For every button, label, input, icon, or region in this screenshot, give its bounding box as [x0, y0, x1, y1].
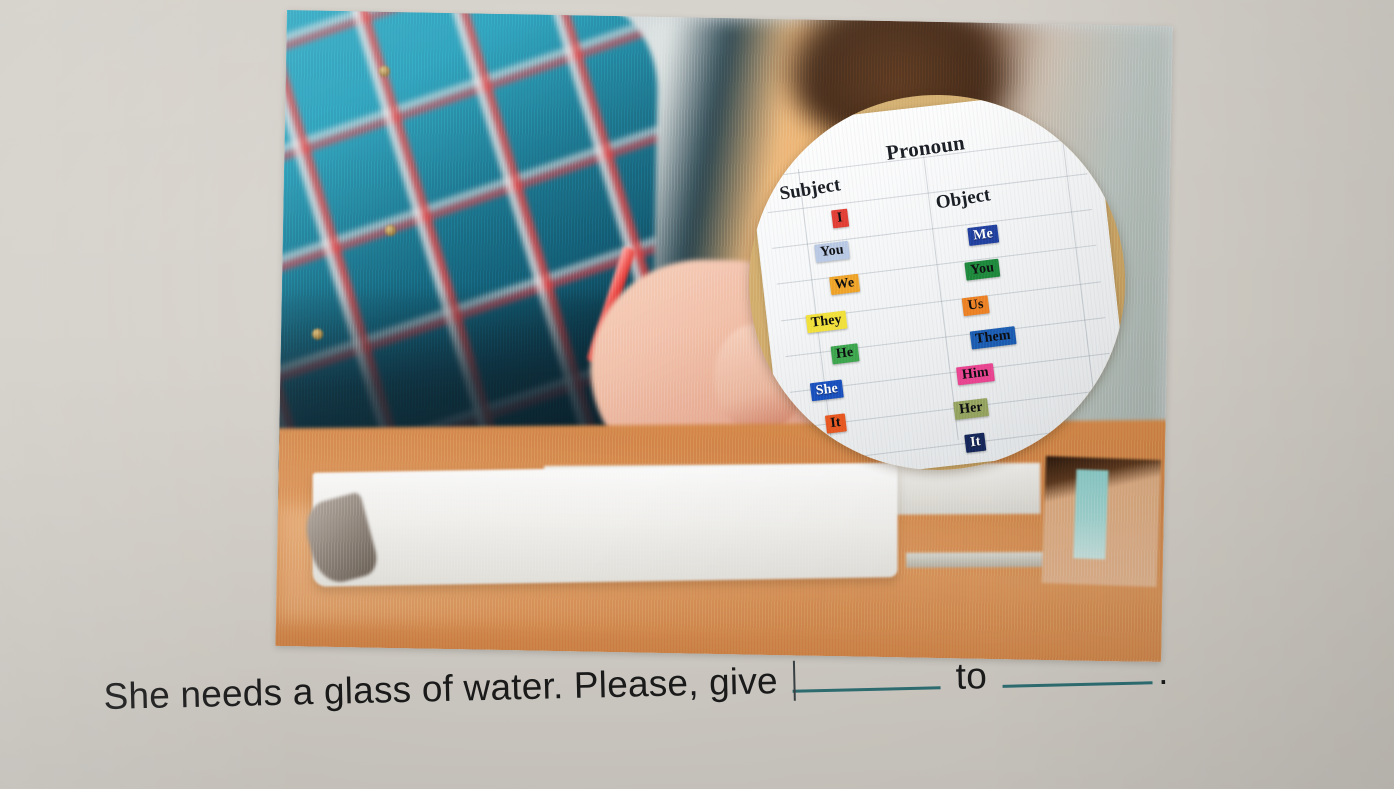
answer-blank-1[interactable]	[793, 686, 941, 692]
pronoun-tile-subject-it: It	[824, 414, 846, 434]
pronoun-tile-subject-she: She	[810, 380, 844, 402]
question-period: .	[1157, 651, 1168, 693]
pronoun-chart-paper: Pronoun Subject Object I You We They He …	[746, 92, 1129, 474]
pronoun-chart-content: Pronoun Subject Object I You We They He …	[746, 92, 1129, 474]
text-caret	[793, 661, 796, 701]
pronoun-tile-subject-you: You	[814, 241, 850, 263]
screen: Pronoun Subject Object I You We They He …	[0, 0, 1394, 789]
pronoun-tile-object-it: It	[964, 433, 986, 453]
open-notebook	[313, 463, 898, 587]
pronoun-chart-title: Pronoun	[884, 130, 966, 166]
pronoun-tile-object-them: Them	[969, 326, 1016, 349]
question-connector: to	[955, 655, 987, 698]
pronoun-chart-inset: Pronoun Subject Object I You We They He …	[746, 92, 1129, 474]
answer-blank-2-wrapper[interactable]	[1001, 651, 1152, 697]
answer-blank-1-wrapper[interactable]	[792, 656, 941, 701]
pronoun-tile-object-you: You	[965, 259, 1001, 281]
pronoun-tile-object-her: Her	[953, 399, 989, 421]
pronoun-tile-object-him: Him	[956, 363, 995, 385]
pronoun-chart-column-subject: Subject	[778, 174, 842, 205]
pronoun-tile-object-us: Us	[962, 295, 990, 316]
teal-bookmark-tab	[1073, 469, 1108, 559]
pronoun-tile-object-me: Me	[967, 225, 999, 246]
pronoun-chart-column-object: Object	[934, 185, 992, 215]
shirt-button-icon	[385, 225, 396, 236]
pronoun-tile-subject-he: He	[830, 344, 859, 365]
pronoun-tile-subject-i: I	[831, 209, 849, 229]
exercise-photo: Pronoun Subject Object I You We They He …	[275, 10, 1173, 662]
answer-blank-2[interactable]	[1002, 681, 1152, 688]
pronoun-tile-subject-we: We	[829, 275, 861, 296]
pronoun-tile-subject-they: They	[805, 311, 848, 334]
photo-canvas: Pronoun Subject Object I You We They He …	[275, 10, 1173, 662]
